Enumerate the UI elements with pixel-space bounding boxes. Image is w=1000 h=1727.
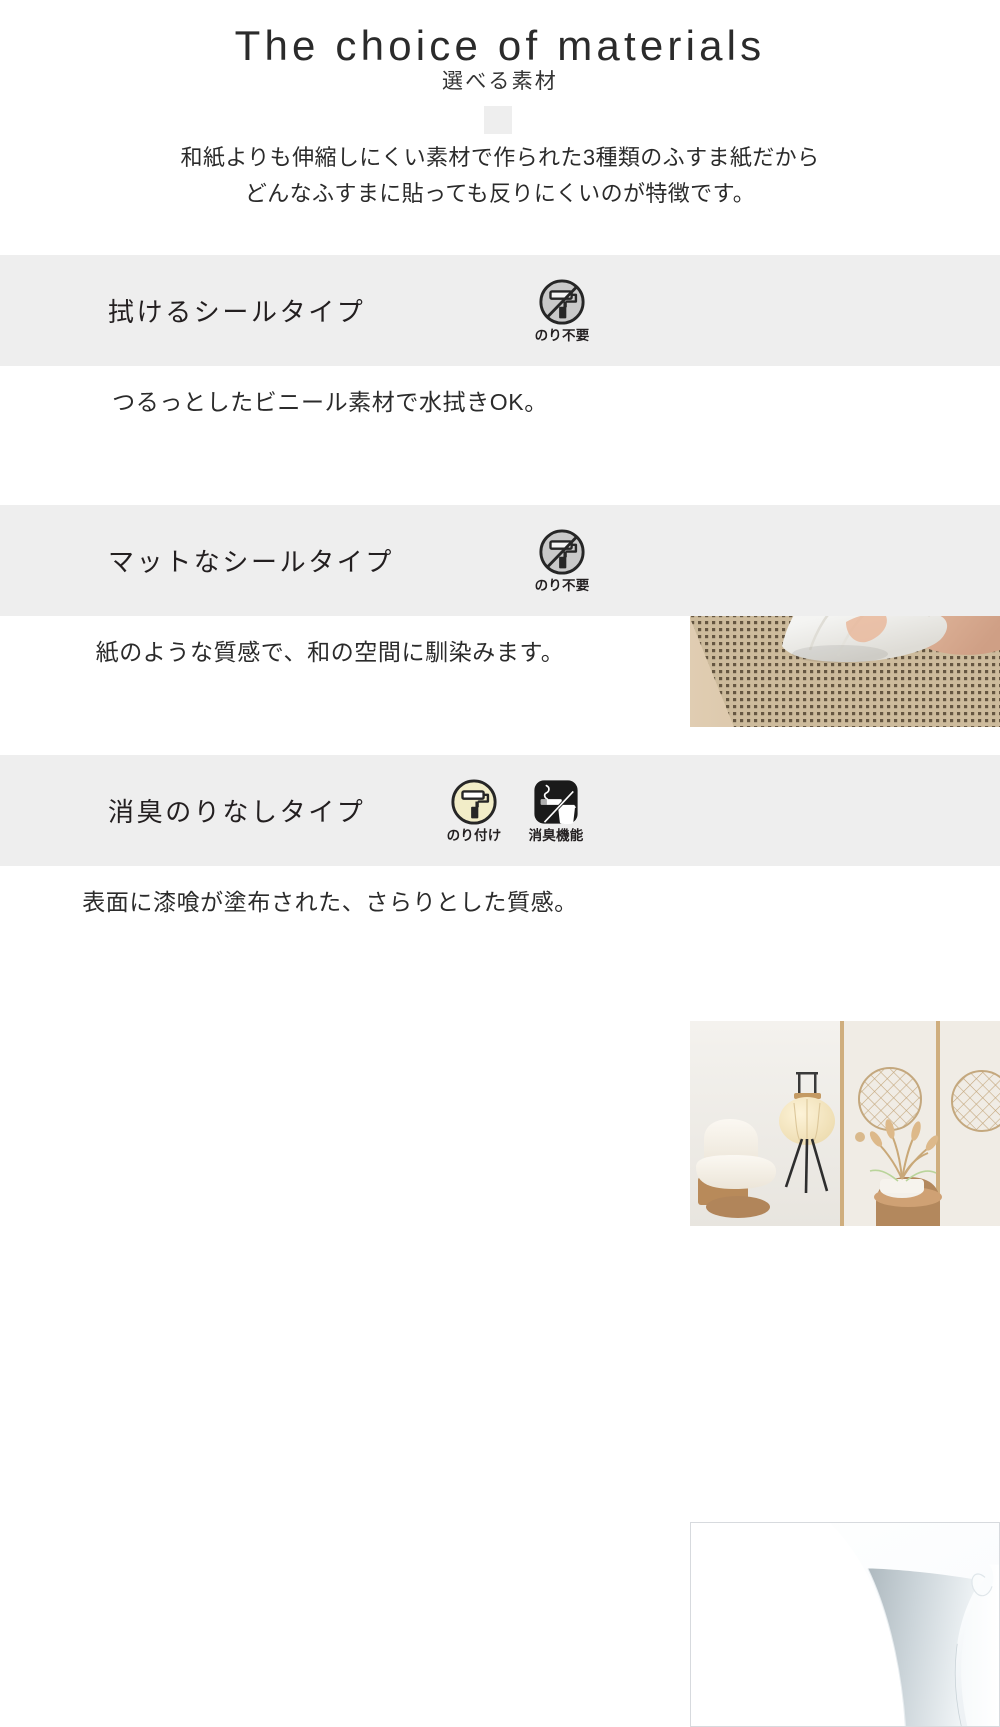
badge-label-glue-applied: のり付け: [447, 829, 502, 843]
page-title-english: The choice of materials: [0, 22, 1000, 70]
section-3-description: 表面に漆喰が塗布された、さらりとした質感。: [0, 886, 660, 918]
section-1-description: つるっとしたビニール素材で水拭きOK。: [0, 386, 660, 418]
glue-roller-icon: [450, 778, 498, 826]
badge-label-no-glue-2: のり不要: [535, 579, 590, 593]
badge-no-glue-1: のり不要: [528, 278, 596, 343]
photo-white-paper-sheet-art: [691, 1523, 999, 1726]
section-1-badges: のり不要: [528, 255, 596, 366]
photo-japanese-interior: [690, 1021, 1000, 1226]
page-header: The choice of materials 選べる素材 和紙よりも伸縮しにく…: [0, 0, 1000, 250]
lead-line-1: 和紙よりも伸縮しにくい素材で作られた3種類のふすま紙だから: [0, 140, 1000, 176]
divider-square: [484, 106, 512, 134]
photo-japanese-interior-art: [690, 1021, 1000, 1226]
lead-paragraph: 和紙よりも伸縮しにくい素材で作られた3種類のふすま紙だから どんなふすまに貼って…: [0, 140, 1000, 211]
badge-deodorize: 消臭機能: [522, 778, 590, 843]
badge-label-no-glue-1: のり不要: [535, 329, 590, 343]
page-title-japanese: 選べる素材: [0, 68, 1000, 95]
section-1-heading: 拭けるシールタイプ: [108, 292, 365, 329]
photo-white-paper-sheet: [690, 1522, 1000, 1727]
no-glue-roller-icon: [538, 528, 586, 576]
badge-no-glue-2: のり不要: [528, 528, 596, 593]
section-2-description: 紙のような質感で、和の空間に馴染みます。: [0, 636, 660, 668]
product-feature-page: The choice of materials 選べる素材 和紙よりも伸縮しにく…: [0, 0, 1000, 1000]
material-section-2: マットなシールタイプ のり不要 紙のような質感で、和の空間に馴染みます。: [0, 500, 1000, 750]
lead-line-2: どんなふすまに貼っても反りにくいのが特徴です。: [0, 176, 1000, 212]
badge-label-deodorize: 消臭機能: [529, 829, 584, 843]
material-section-1: 拭けるシールタイプ のり不要 つるっとしたビニール素材で水拭きOK。: [0, 250, 1000, 500]
section-2-heading: マットなシールタイプ: [108, 542, 394, 579]
section-3-heading: 消臭のりなしタイプ: [108, 792, 365, 829]
section-2-badges: のり不要: [528, 505, 596, 616]
badge-glue-applied: のり付け: [440, 778, 508, 843]
section-3-badges: のり付け 消臭機能: [440, 755, 590, 866]
deodorize-icon: [532, 778, 580, 826]
no-glue-roller-icon: [538, 278, 586, 326]
material-section-3: 消臭のりなしタイプ のり付け: [0, 750, 1000, 1000]
